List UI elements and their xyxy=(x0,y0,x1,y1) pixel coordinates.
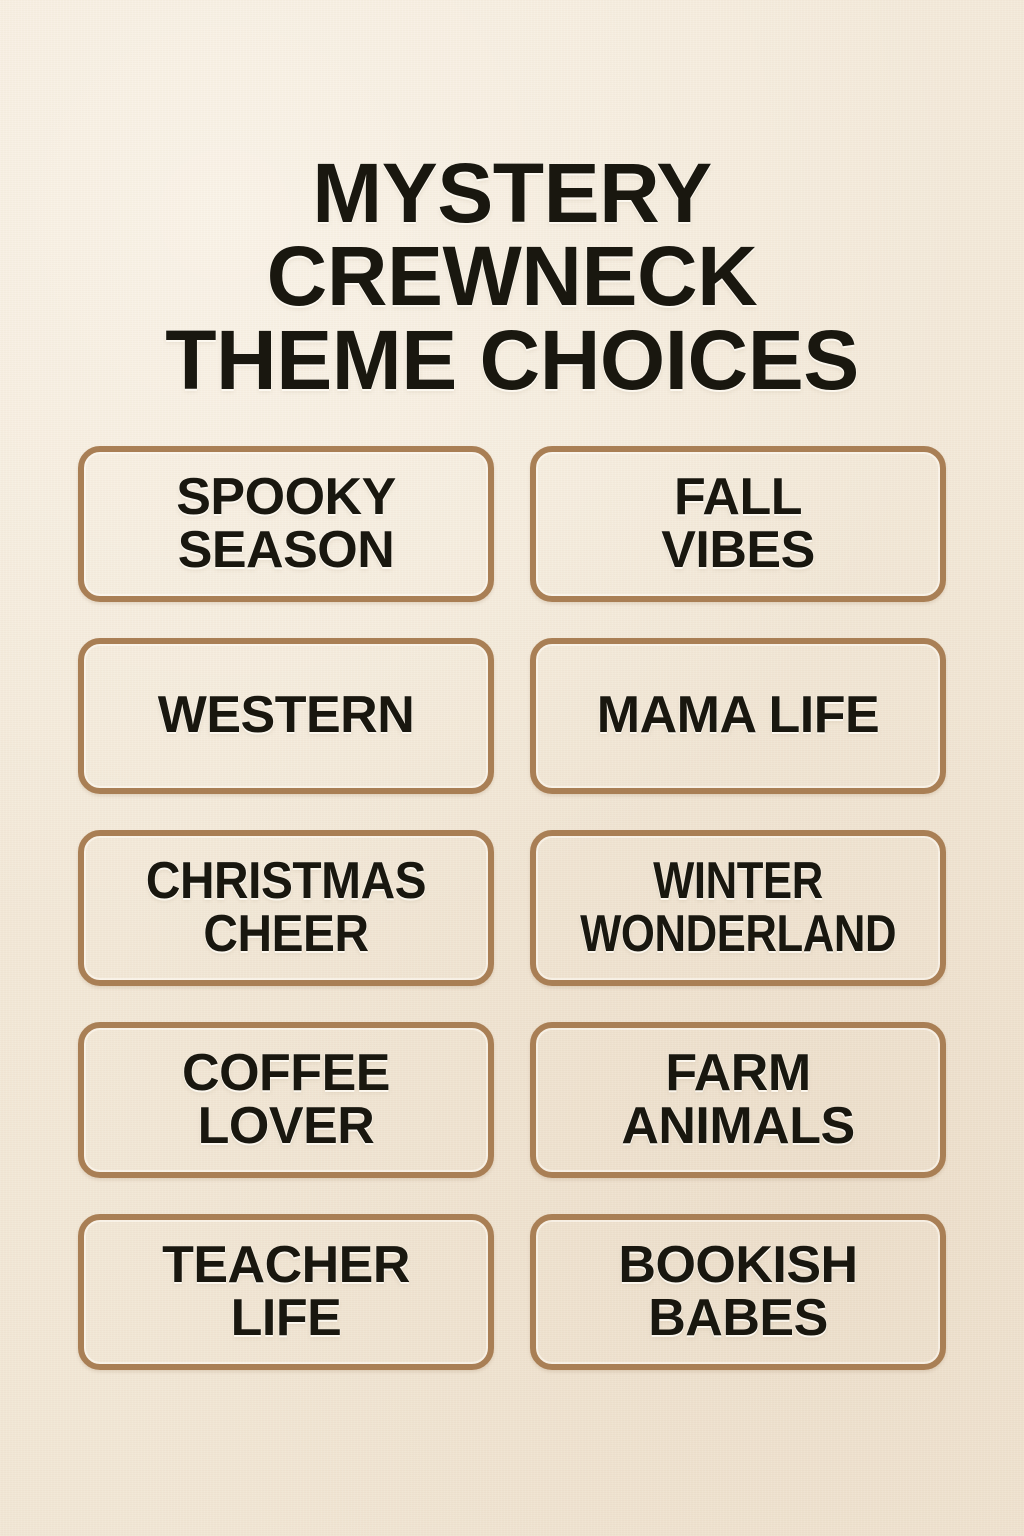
theme-choice-teacher-life[interactable]: TEACHER LIFE xyxy=(78,1214,494,1370)
theme-choice-label: MAMA LIFE xyxy=(550,689,926,742)
theme-choice-western[interactable]: WESTERN xyxy=(78,638,494,794)
theme-choice-label: WINTER WONDERLAND xyxy=(580,855,896,961)
theme-choice-bookish-babes[interactable]: BOOKISH BABES xyxy=(530,1214,946,1370)
theme-choice-christmas-cheer[interactable]: CHRISTMAS CHEER xyxy=(78,830,494,986)
theme-choice-label: BOOKISH BABES xyxy=(550,1239,926,1345)
theme-choice-fall-vibes[interactable]: FALL VIBES xyxy=(530,446,946,602)
page-title-line-1: MYSTERY xyxy=(0,152,1024,235)
page-title-line-3: THEME CHOICES xyxy=(0,319,1024,402)
theme-choice-label: SPOOKY SEASON xyxy=(98,471,474,577)
page-title: MYSTERY CREWNECK THEME CHOICES xyxy=(0,152,1024,401)
theme-choice-coffee-lover[interactable]: COFFEE LOVER xyxy=(78,1022,494,1178)
theme-choice-label: FARM ANIMALS xyxy=(550,1047,926,1153)
theme-choice-farm-animals[interactable]: FARM ANIMALS xyxy=(530,1022,946,1178)
theme-choice-spooky-season[interactable]: SPOOKY SEASON xyxy=(78,446,494,602)
theme-choice-label: FALL VIBES xyxy=(550,471,926,577)
poster-canvas: MYSTERY CREWNECK THEME CHOICES SPOOKY SE… xyxy=(0,0,1024,1536)
theme-choice-mama-life[interactable]: MAMA LIFE xyxy=(530,638,946,794)
theme-choice-label: TEACHER LIFE xyxy=(98,1239,474,1345)
theme-choice-winter-wonderland[interactable]: WINTER WONDERLAND xyxy=(530,830,946,986)
theme-choice-grid: SPOOKY SEASONFALL VIBESWESTERNMAMA LIFEC… xyxy=(78,446,946,1370)
theme-choice-label: WESTERN xyxy=(98,689,474,742)
theme-choice-label: COFFEE LOVER xyxy=(98,1047,474,1153)
page-title-line-2: CREWNECK xyxy=(0,235,1024,318)
theme-choice-label: CHRISTMAS CHEER xyxy=(113,855,459,961)
